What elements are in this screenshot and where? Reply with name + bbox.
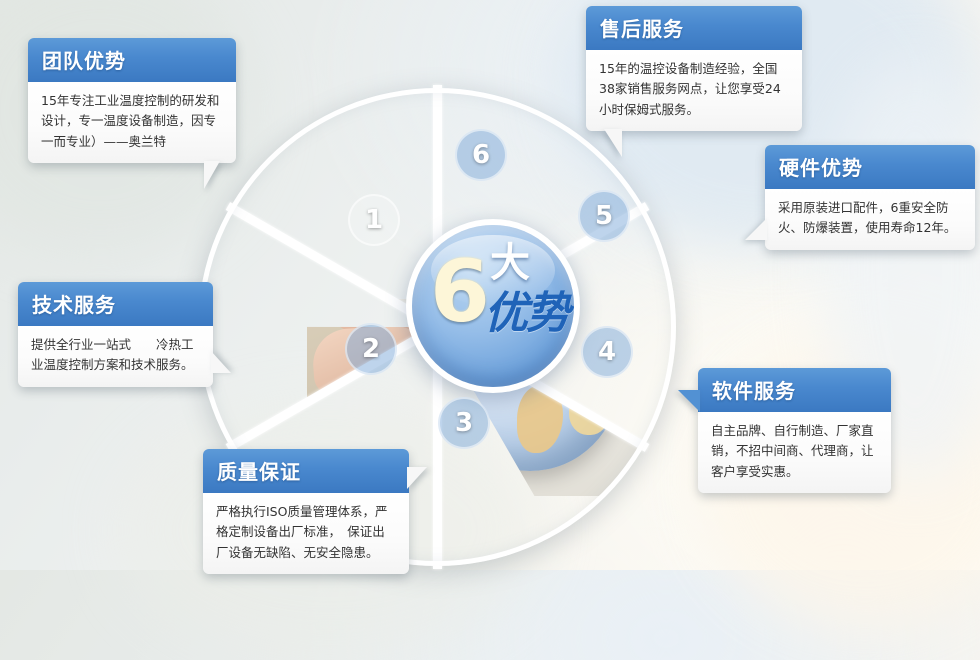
callout-tail-hardware (745, 218, 767, 240)
center-script-word: 优势 (484, 291, 568, 337)
center-badge-face: 6 大 优势 (412, 225, 574, 387)
callout-tail-quality (407, 467, 427, 489)
segment-badge-1[interactable]: 1 (348, 194, 400, 246)
callout-card-quality[interactable]: 质量保证 严格执行ISO质量管理体系，严格定制设备出厂标准， 保证出厂设备无缺陷… (203, 449, 409, 574)
segment-badge-4-label: 4 (598, 337, 616, 367)
callout-title-hardware: 硬件优势 (765, 145, 975, 189)
callout-body-team: 15年专注工业温度控制的研发和设计，专一温度设备制造，因专一而专业）——奥兰特 (28, 82, 236, 163)
callout-title-after-sales: 售后服务 (586, 6, 802, 50)
callout-card-after-sales[interactable]: 售后服务 15年的温控设备制造经验，全国38家销售服务网点，让您享受24小时保姆… (586, 6, 802, 131)
callout-body-quality: 严格执行ISO质量管理体系，严格定制设备出厂标准， 保证出厂设备无缺陷、无安全隐… (203, 493, 409, 574)
callout-tail-technical (211, 351, 231, 373)
callout-body-technical: 提供全行业一站式 冷热工业温度控制方案和技术服务。 (18, 326, 213, 387)
segment-badge-2-label: 2 (362, 334, 380, 364)
callout-card-software[interactable]: 软件服务 自主品牌、自行制造、厂家直销，不招中间商、代理商，让客户享受实惠。 (698, 368, 891, 493)
callout-card-hardware[interactable]: 硬件优势 采用原装进口配件，6重安全防火、防爆装置，使用寿命12年。 (765, 145, 975, 250)
callout-tail-team (204, 161, 220, 189)
segment-badge-4[interactable]: 4 (581, 326, 633, 378)
center-number: 6 (430, 249, 490, 335)
segment-badge-3-label: 3 (455, 408, 473, 438)
callout-title-technical: 技术服务 (18, 282, 213, 326)
segment-badge-2[interactable]: 2 (345, 323, 397, 375)
segment-badge-5[interactable]: 5 (578, 190, 630, 242)
callout-tail-software (678, 390, 700, 412)
segment-badge-1-label: 1 (365, 205, 383, 235)
callout-title-quality: 质量保证 (203, 449, 409, 493)
center-big-word: 大 (490, 243, 530, 283)
infographic-stage: 6 大 优势 1 2 3 4 5 6 团队优势 15年专注工业温度控制的研发和设… (0, 0, 980, 570)
callout-body-software: 自主品牌、自行制造、厂家直销，不招中间商、代理商，让客户享受实惠。 (698, 412, 891, 493)
segment-badge-6-label: 6 (472, 140, 490, 170)
callout-title-software: 软件服务 (698, 368, 891, 412)
callout-body-after-sales: 15年的温控设备制造经验，全国38家销售服务网点，让您享受24小时保姆式服务。 (586, 50, 802, 131)
callout-card-team[interactable]: 团队优势 15年专注工业温度控制的研发和设计，专一温度设备制造，因专一而专业）—… (28, 38, 236, 163)
segment-badge-3[interactable]: 3 (438, 397, 490, 449)
center-badge: 6 大 优势 (406, 219, 580, 393)
segment-badge-6[interactable]: 6 (455, 129, 507, 181)
callout-card-technical[interactable]: 技术服务 提供全行业一站式 冷热工业温度控制方案和技术服务。 (18, 282, 213, 387)
callout-title-team: 团队优势 (28, 38, 236, 82)
callout-body-hardware: 采用原装进口配件，6重安全防火、防爆装置，使用寿命12年。 (765, 189, 975, 250)
segment-badge-5-label: 5 (595, 201, 613, 231)
callout-tail-after-sales (604, 129, 622, 157)
